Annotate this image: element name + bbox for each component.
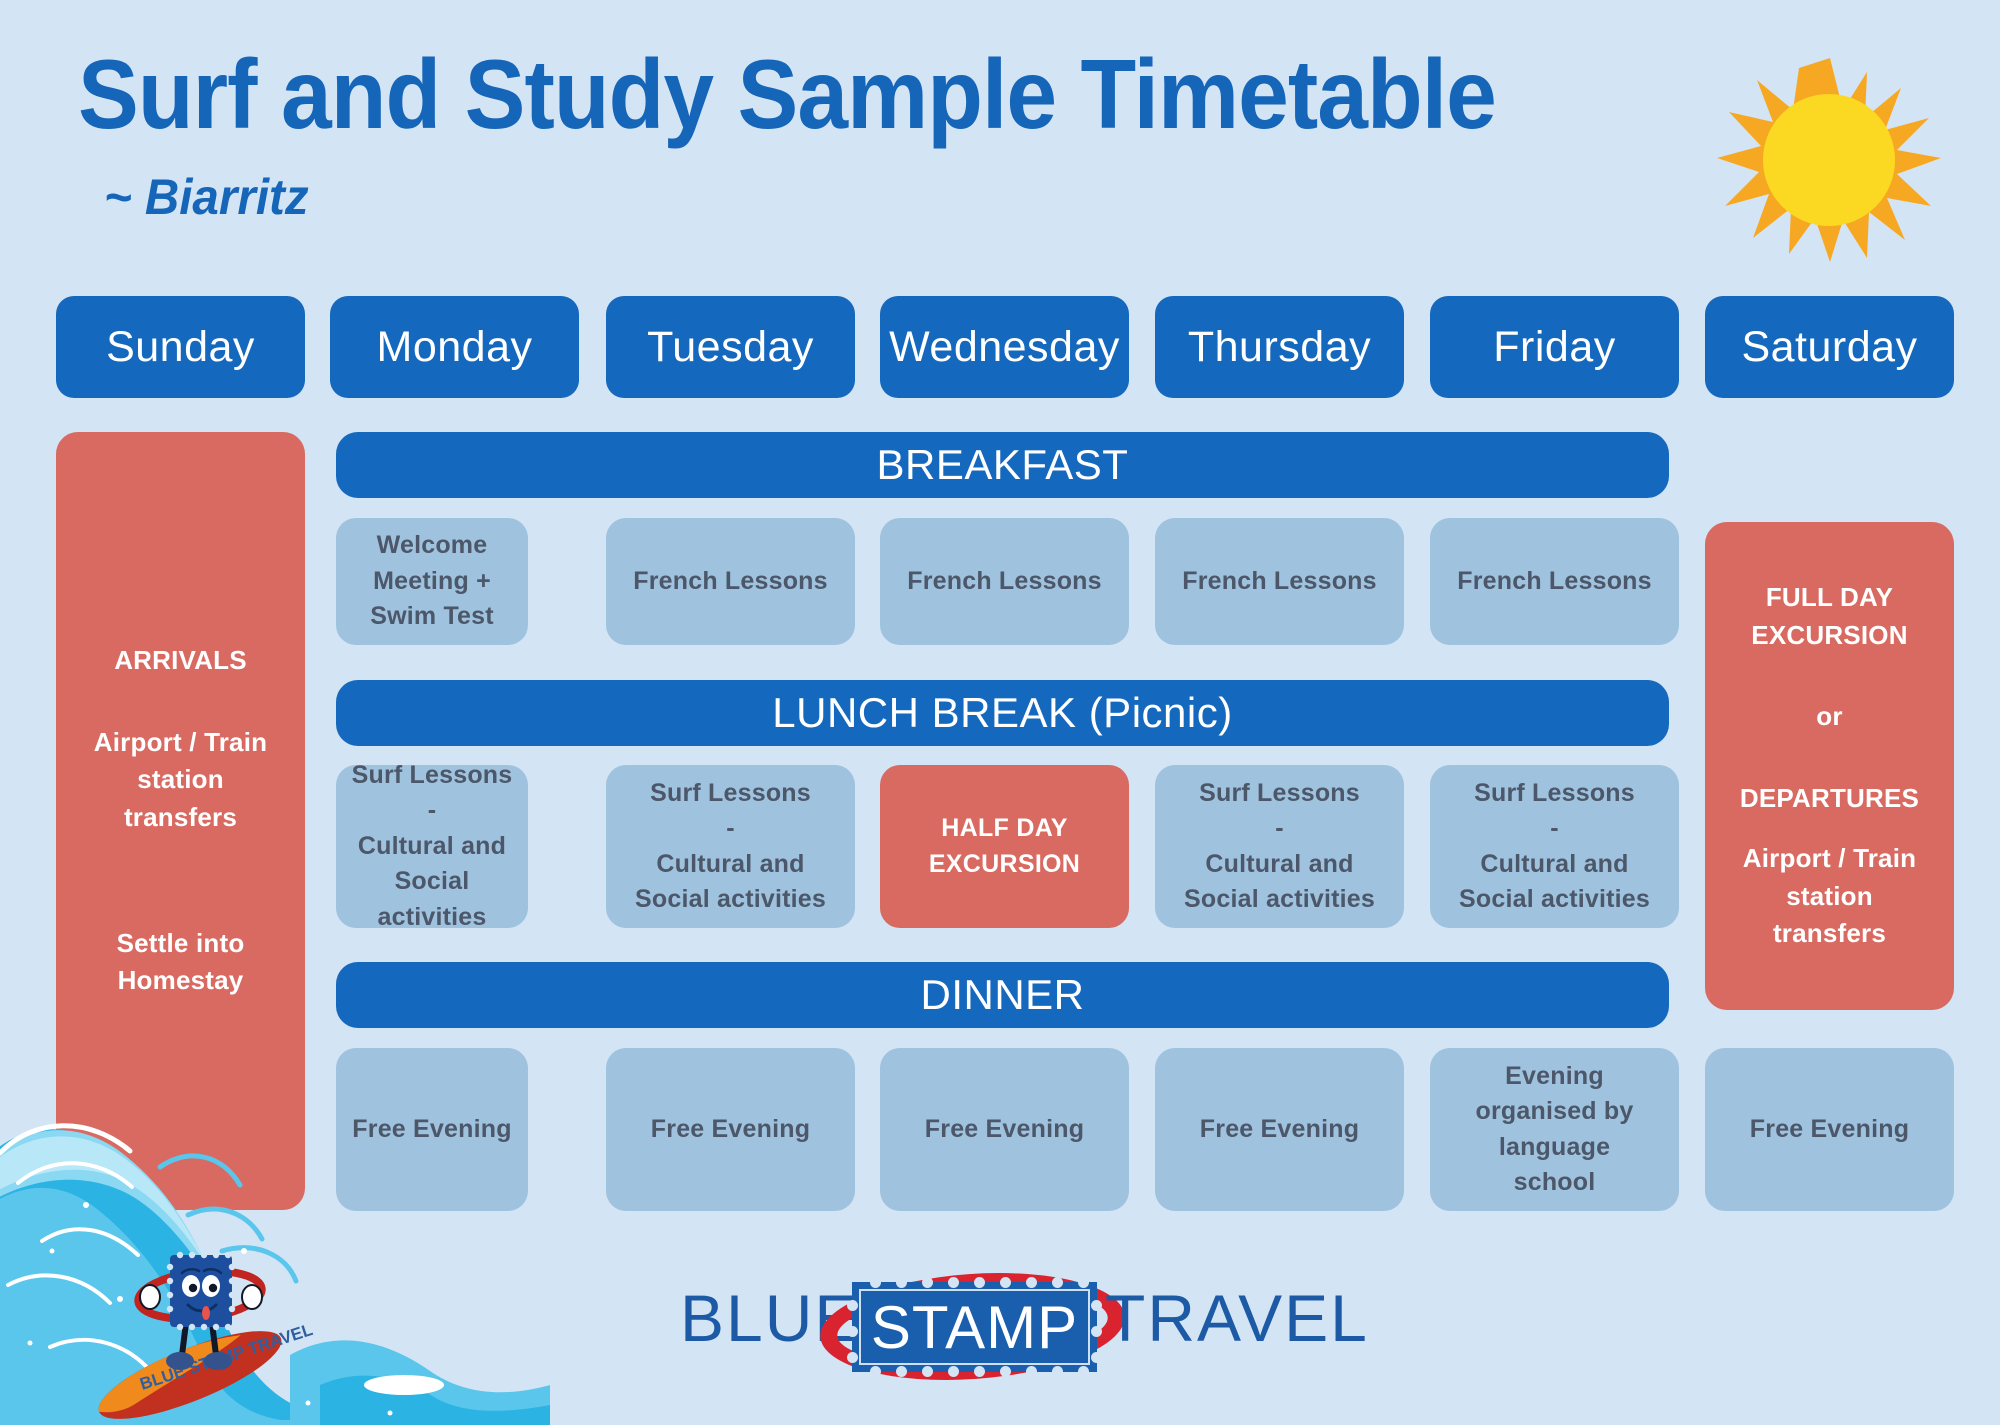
cell-morning-friday: French Lessons [1430,518,1679,645]
departures-transfers: Airport / Train station transfers [1732,840,1927,953]
wave-illustration: BLUE STAMP TRAVEL [0,1055,550,1425]
cell-morning-wednesday: French Lessons [880,518,1129,645]
day-header-monday: Monday [330,296,579,398]
day-header-saturday: Saturday [1705,296,1954,398]
cell-text: Free Evening [925,1112,1084,1148]
cell-text: French Lessons [907,564,1102,600]
cell-morning-thursday: French Lessons [1155,518,1404,645]
day-header-tuesday: Tuesday [606,296,855,398]
cell-evening-saturday: Free Evening [1705,1048,1954,1211]
cell-text: Evening organised by language school [1460,1059,1650,1201]
cell-text: Surf Lessons - Cultural and Social activ… [1184,776,1375,918]
departures-transfers-text: Airport / Train station transfers [1743,843,1916,948]
cell-morning-tuesday: French Lessons [606,518,855,645]
cell-text: Free Evening [651,1112,810,1148]
logo-word-travel: TRAVEL [1105,1280,1369,1356]
or-separator: or [1816,698,1842,736]
day-label: Wednesday [889,323,1120,372]
arrivals-homestay-text: Settle into Homestay [117,928,245,996]
cell-text: Surf Lessons - Cultural and Social activ… [635,776,826,918]
cell-afternoon-tuesday: Surf Lessons - Cultural and Social activ… [606,765,855,928]
day-label: Monday [377,323,533,372]
arrivals-transfers: Airport / Train station transfers [86,724,276,837]
arrivals-title: ARRIVALS [114,642,247,680]
logo-stamp-icon: STAMP [852,1282,1097,1372]
cell-text: French Lessons [633,564,828,600]
arrivals-transfers-text: Airport / Train station transfers [94,727,267,832]
cell-text: HALF DAY EXCURSION [917,811,1092,882]
cell-text: French Lessons [1182,564,1377,600]
cell-afternoon-thursday: Surf Lessons - Cultural and Social activ… [1155,765,1404,928]
cell-text: Welcome Meeting + Swim Test [346,528,518,635]
cell-morning-monday: Welcome Meeting + Swim Test [336,518,528,645]
meal-label: BREAKFAST [877,441,1129,489]
fullday-title-text: FULL DAY EXCURSION [1751,582,1907,650]
cell-text: Surf Lessons - Cultural and Social activ… [1459,776,1650,918]
day-header-thursday: Thursday [1155,296,1404,398]
cell-afternoon-monday: Surf Lessons - Cultural and Social activ… [336,765,528,928]
cell-evening-wednesday: Free Evening [880,1048,1129,1211]
departures-title: DEPARTURES [1740,780,1919,818]
meal-bar-dinner: DINNER [336,962,1669,1028]
day-header-friday: Friday [1430,296,1679,398]
day-header-sunday: Sunday [56,296,305,398]
day-label: Tuesday [647,323,814,372]
arrivals-homestay: Settle into Homestay [86,925,276,1000]
page-title: Surf and Study Sample Timetable [78,38,1496,151]
fullday-title: FULL DAY EXCURSION [1727,579,1932,654]
day-header-wednesday: Wednesday [880,296,1129,398]
logo-word-stamp: STAMP [852,1282,1097,1372]
cell-evening-friday: Evening organised by language school [1430,1048,1679,1211]
saturday-excursion-panel: FULL DAY EXCURSION or DEPARTURES Airport… [1705,522,1954,1010]
page-header: Surf and Study Sample Timetable ~ Biarri… [0,0,2000,290]
page-subtitle: ~ Biarritz [104,168,309,226]
meal-label: LUNCH BREAK (Picnic) [772,689,1232,737]
day-label: Sunday [106,323,255,372]
day-label: Saturday [1741,323,1917,372]
sun-icon [1715,50,1945,265]
day-label: Thursday [1188,323,1371,372]
cell-evening-tuesday: Free Evening [606,1048,855,1211]
meal-label: DINNER [920,971,1084,1019]
meal-bar-breakfast: BREAKFAST [336,432,1669,498]
meal-bar-lunch: LUNCH BREAK (Picnic) [336,680,1669,746]
cell-afternoon-friday: Surf Lessons - Cultural and Social activ… [1430,765,1679,928]
cell-afternoon-wednesday: HALF DAY EXCURSION [880,765,1129,928]
brand-logo: BLUE STAMP TRAVEL [640,1268,1340,1388]
cell-text: Free Evening [1200,1112,1359,1148]
cell-evening-thursday: Free Evening [1155,1048,1404,1211]
day-label: Friday [1493,323,1615,372]
cell-text: Surf Lessons - Cultural and Social activ… [346,758,518,936]
cell-text: Free Evening [1750,1112,1909,1148]
cell-text: French Lessons [1457,564,1652,600]
